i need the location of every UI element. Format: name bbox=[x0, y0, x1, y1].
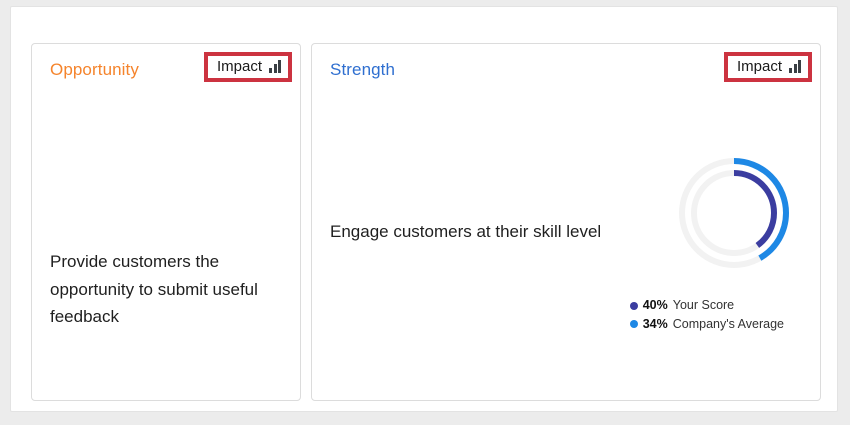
legend-label-your-score: Your Score bbox=[673, 298, 734, 314]
strength-card[interactable]: Strength Impact Engage customers at thei… bbox=[311, 43, 821, 401]
opportunity-card-text: Provide customers the opportunity to sub… bbox=[50, 248, 265, 331]
strength-card-header: Strength Impact bbox=[312, 44, 820, 100]
opportunity-card[interactable]: Opportunity Impact Provide customers the… bbox=[31, 43, 301, 401]
strength-card-body: Engage customers at their skill level bbox=[312, 100, 820, 400]
impact-badge-opportunity[interactable]: Impact bbox=[204, 52, 292, 82]
legend-value-your-score: 40% bbox=[643, 298, 668, 314]
chart-legend: 40% Your Score 34% Company's Average bbox=[630, 298, 784, 332]
page-frame: Opportunity Impact Provide customers the… bbox=[10, 6, 838, 412]
legend-label-company-average: Company's Average bbox=[673, 317, 784, 333]
impact-badge-label: Impact bbox=[217, 59, 262, 74]
legend-value-company-average: 34% bbox=[643, 317, 668, 333]
bar-chart-icon bbox=[789, 60, 801, 73]
strength-card-title: Strength bbox=[330, 60, 395, 80]
opportunity-card-body: Provide customers the opportunity to sub… bbox=[32, 100, 300, 400]
impact-badge-label: Impact bbox=[737, 59, 782, 74]
opportunity-card-header: Opportunity Impact bbox=[32, 44, 300, 100]
insight-cards-row: Opportunity Impact Provide customers the… bbox=[31, 43, 821, 401]
legend-item-company-average: 34% Company's Average bbox=[630, 317, 784, 333]
strength-card-text: Engage customers at their skill level bbox=[330, 218, 610, 246]
legend-item-your-score: 40% Your Score bbox=[630, 298, 784, 314]
legend-dot-company-average bbox=[630, 320, 638, 328]
score-donut-chart bbox=[674, 153, 794, 273]
legend-dot-your-score bbox=[630, 302, 638, 310]
impact-badge-strength[interactable]: Impact bbox=[724, 52, 812, 82]
bar-chart-icon bbox=[269, 60, 281, 73]
opportunity-card-title: Opportunity bbox=[50, 60, 139, 80]
